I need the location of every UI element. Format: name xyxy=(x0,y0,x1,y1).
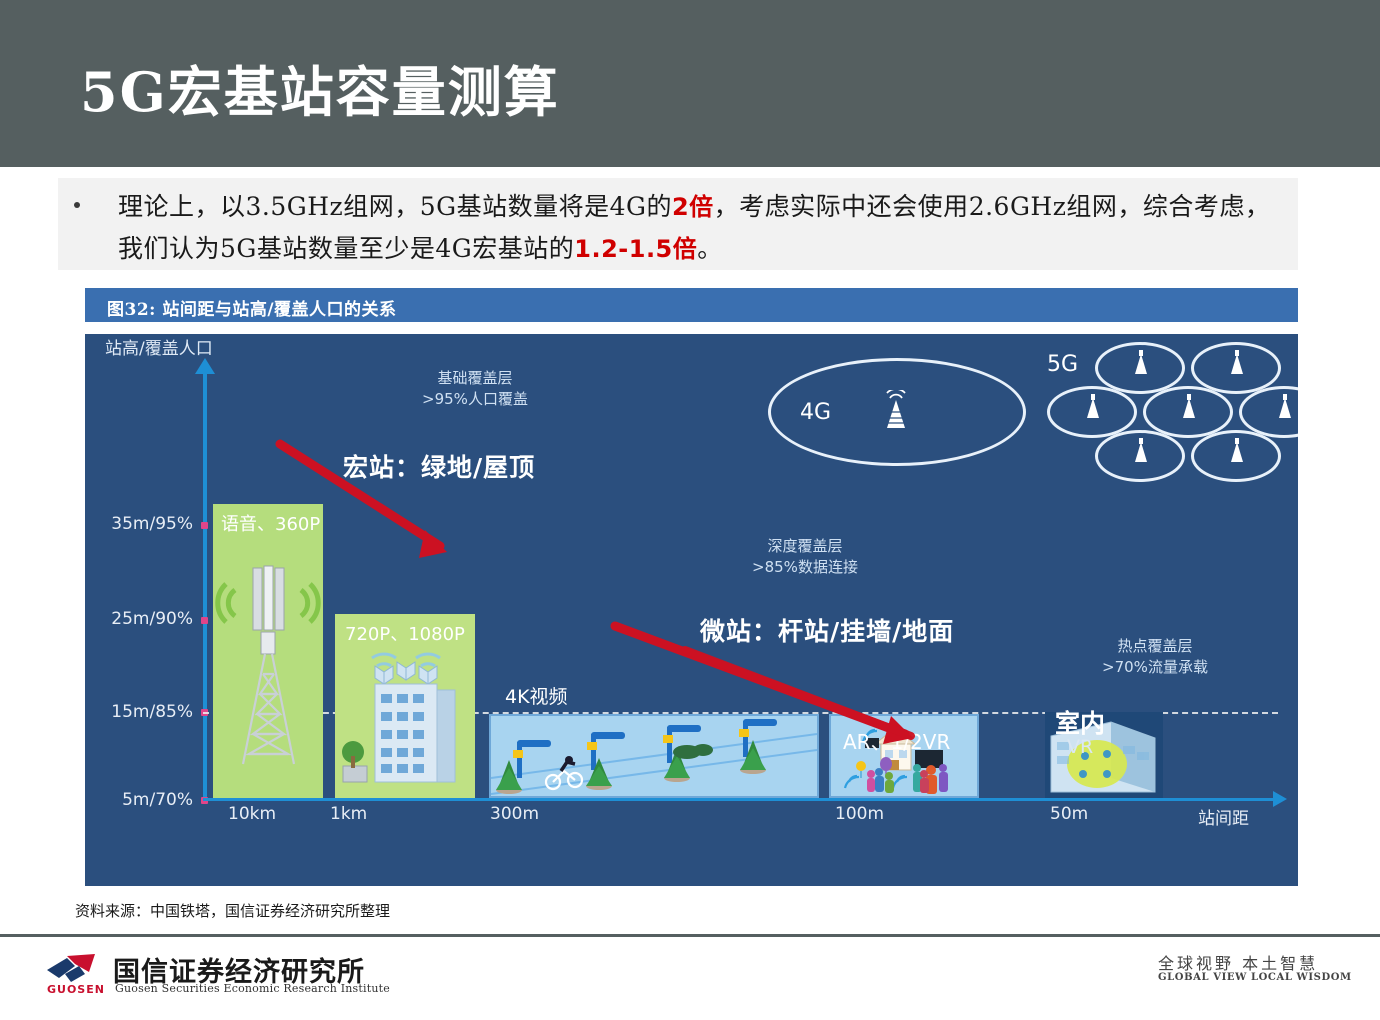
slide-header: 5G宏基站容量测算 xyxy=(0,0,1380,167)
figure-chart-area: 站高/覆盖人口 35m/95% 25m/90% 15m/85% 5m/70% 语… xyxy=(85,334,1298,886)
bullet-text: 理论上，以3.5GHz组网，5G基站数量将是4G的2倍，考虑实际中还会使用2.6… xyxy=(118,186,1284,270)
cell-4g-label: 4G xyxy=(800,400,831,425)
footer-logo: GUOSEN 国信证券经济研究所 Guosen Securities Econo… xyxy=(45,950,375,1000)
footer-tagline-en: GLOBAL VIEW LOCAL WISDOM xyxy=(1158,972,1352,983)
footer-tagline-cn: 全球视野 本土智慧 xyxy=(1158,950,1318,974)
bullet-line1-part1: 理论上，以3.5GHz组网，5G基站数量将是4G的 xyxy=(118,192,672,221)
guosen-logo-icon xyxy=(45,952,103,984)
logo-mark-text: GUOSEN xyxy=(47,983,105,996)
bullet-line2-highlight: 1.2-1.5倍 xyxy=(574,235,697,263)
figure-title-text: 图32: 站间距与站高/覆盖人口的关系 xyxy=(107,295,397,320)
bullet-line2-part2: 。 xyxy=(697,234,723,263)
tower-icon-4g xyxy=(879,390,913,432)
footer-divider xyxy=(0,934,1380,937)
bullet-line1-highlight: 2倍 xyxy=(672,193,714,221)
page-title: 5G宏基站容量测算 xyxy=(80,48,560,127)
tower-icons-5g xyxy=(1040,334,1298,484)
bullet-line1-part2: ，考虑实际中还会使用 xyxy=(714,192,969,221)
source-note: 资料来源：中国铁塔，国信证券经济研究所整理 xyxy=(75,900,390,921)
figure-title-bar: 图32: 站间距与站高/覆盖人口的关系 xyxy=(85,288,1298,322)
bullet-callout: 理论上，以3.5GHz组网，5G基站数量将是4G的2倍，考虑实际中还会使用2.6… xyxy=(58,178,1298,270)
logo-en-text: Guosen Securities Economic Research Inst… xyxy=(115,982,390,995)
bullet-dot-icon xyxy=(74,202,80,208)
